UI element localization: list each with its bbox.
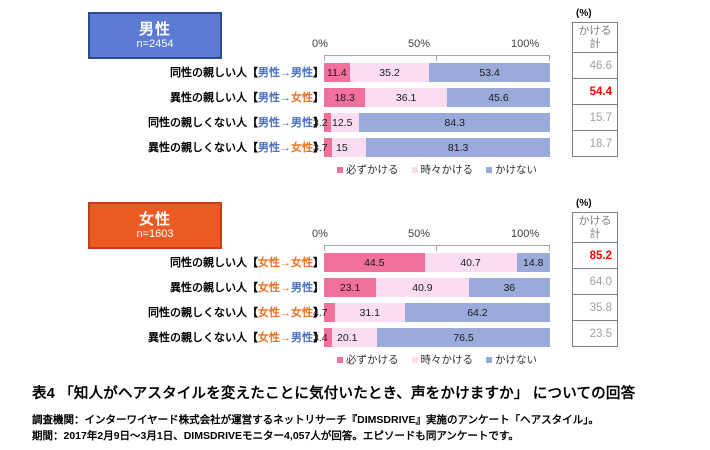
gender-sample-size: n=1603 <box>136 228 173 241</box>
row-label: 同性の親しくない人【女性→女性】 <box>148 304 324 320</box>
row-label-prefix: 異性の親しい人【 <box>170 282 258 294</box>
legend-label: かけない <box>495 162 537 177</box>
row-label: 同性の親しい人【女性→女性】 <box>170 254 324 270</box>
summary-table-header: かける計 <box>573 213 618 243</box>
source-line-1: 調査機関：インターワイヤード株式会社が運営するネットリサーチ『DIMSDRIVE… <box>32 412 599 428</box>
summary-cell-highlight: 54.4 <box>573 79 618 105</box>
legend-item-never: かけない <box>486 352 537 367</box>
x-axis-labels-male: 0% 50% 100% <box>304 38 566 52</box>
row-label-prefix: 異性の親しくない人【 <box>148 332 258 344</box>
summary-cell: 23.5 <box>573 321 618 347</box>
x-tick-100: 100% <box>511 38 539 50</box>
legend-item-never: かけない <box>486 162 537 177</box>
stacked-bar: 11.4 35.2 53.4 <box>324 63 550 82</box>
bar-segment-never: 14.8 <box>517 253 550 272</box>
x-tick-50: 50% <box>408 228 430 240</box>
bar-segment-never: 81.3 <box>366 138 550 157</box>
row-label-arrow: → <box>280 332 291 344</box>
summary-table-male: かける計 46.6 54.4 15.7 18.7 <box>572 22 618 157</box>
row-label-prefix: 同性の親しい人【 <box>170 257 258 269</box>
bar-value-always: 4.7 <box>313 303 328 322</box>
bar-segment-sometimes: 31.1 <box>335 303 405 322</box>
row-label-from: 女性 <box>258 307 280 319</box>
legend-male: 必ずかける 時々かける かけない <box>324 162 550 177</box>
legend-label: 必ずかける <box>346 162 399 177</box>
legend-item-always: 必ずかける <box>337 162 399 177</box>
bar-segment-sometimes: 35.2 <box>350 63 430 82</box>
summary-header-line1: かける <box>579 215 612 227</box>
bar-segment-sometimes: 40.9 <box>376 278 468 297</box>
stacked-bar: 81.3 <box>324 138 550 157</box>
stacked-bar: 23.1 40.9 36 <box>324 278 550 297</box>
bar-segment-always: 11.4 <box>324 63 350 82</box>
row-label-suffix: 】 <box>313 67 324 79</box>
row-label: 異性の親しくない人【女性→男性】 <box>148 329 324 345</box>
bar-segment-always: 44.5 <box>324 253 425 272</box>
bar-segment-never: 36 <box>469 278 550 297</box>
row-label: 異性の親しい人【男性→女性】 <box>170 89 324 105</box>
row-label-to: 男性 <box>291 332 313 344</box>
row-label-to: 男性 <box>291 117 313 129</box>
row-label-to: 女性 <box>291 92 313 104</box>
chart-panel-male: 男性 n=2454 0% 50% 100% 同性の親しい人【男性→男性】 11.… <box>0 0 710 185</box>
bar-segment-never: 53.4 <box>429 63 550 82</box>
x-tick-0: 0% <box>312 38 328 50</box>
legend-swatch-sometimes-icon <box>412 167 418 173</box>
legend-item-sometimes: 時々かける <box>412 162 474 177</box>
gender-title: 女性 <box>139 211 171 228</box>
legend-label: かけない <box>495 352 537 367</box>
row-label-to: 男性 <box>291 67 313 79</box>
bar-segment-never: 76.5 <box>377 328 550 347</box>
row-label: 同性の親しくない人【男性→男性】 <box>148 114 324 130</box>
summary-cell: 18.7 <box>573 131 618 157</box>
summary-header-line2: 計 <box>590 38 601 50</box>
row-label-prefix: 同性の親しい人【 <box>170 67 258 79</box>
x-tick-50: 50% <box>408 38 430 50</box>
stacked-bar: 18.3 36.1 45.6 <box>324 88 550 107</box>
bar-segment-never: 45.6 <box>447 88 550 107</box>
row-label-prefix: 異性の親しい人【 <box>170 92 258 104</box>
legend-swatch-never-icon <box>486 167 492 173</box>
legend-swatch-sometimes-icon <box>412 357 418 363</box>
row-label-from: 女性 <box>258 332 280 344</box>
summary-cell: 15.7 <box>573 105 618 131</box>
row-label-prefix: 異性の親しくない人【 <box>148 142 258 154</box>
row-label-to: 男性 <box>291 282 313 294</box>
x-tick-0: 0% <box>312 228 328 240</box>
bar-value-always: 3.4 <box>313 328 328 347</box>
bar-segment-never: 84.3 <box>359 113 550 132</box>
summary-table-header: かける計 <box>573 23 618 53</box>
summary-cell: 35.8 <box>573 295 618 321</box>
row-label-arrow: → <box>280 282 291 294</box>
bar-segment-sometimes: 36.1 <box>365 88 447 107</box>
bar-segment-sometimes: 40.7 <box>425 253 517 272</box>
row-label-to: 女性 <box>291 257 313 269</box>
summary-cell: 46.6 <box>573 53 618 79</box>
chart-panel-female: 女性 n=1603 0% 50% 100% 同性の親しい人【女性→女性】 44.… <box>0 190 710 365</box>
x-axis-labels-female: 0% 50% 100% <box>304 228 566 242</box>
row-label-from: 男性 <box>258 117 280 129</box>
source-line-2: 期間：2017年2月9日〜3月1日、DIMSDRIVEモニター4,057人が回答… <box>32 428 599 444</box>
bar-value-sometimes: 20.1 <box>337 328 357 347</box>
stacked-bar: 44.5 40.7 14.8 <box>324 253 550 272</box>
row-label-arrow: → <box>280 257 291 269</box>
row-label-arrow: → <box>280 117 291 129</box>
stacked-bar: 31.1 64.2 <box>324 303 550 322</box>
bar-segment-always: 18.3 <box>324 88 365 107</box>
bar-value-always: 3.7 <box>313 138 328 157</box>
bar-value-sometimes: 12.5 <box>332 113 352 132</box>
legend-swatch-always-icon <box>337 357 343 363</box>
summary-cell: 64.0 <box>573 269 618 295</box>
row-label-to: 女性 <box>291 142 313 154</box>
row-label-arrow: → <box>280 307 291 319</box>
row-label-from: 男性 <box>258 92 280 104</box>
row-label: 同性の親しい人【男性→男性】 <box>170 64 324 80</box>
row-label-from: 男性 <box>258 142 280 154</box>
row-label-suffix: 】 <box>313 257 324 269</box>
summary-header-line2: 計 <box>590 228 601 240</box>
row-label-from: 男性 <box>258 67 280 79</box>
gender-header-male: 男性 n=2454 <box>88 12 222 59</box>
row-label-suffix: 】 <box>313 282 324 294</box>
x-tick-100: 100% <box>511 228 539 240</box>
row-label-prefix: 同性の親しくない人【 <box>148 117 258 129</box>
summary-unit-female: (%) <box>576 198 592 209</box>
legend-label: 時々かける <box>421 352 474 367</box>
bar-value-sometimes: 15 <box>336 138 348 157</box>
row-label-to: 女性 <box>291 307 313 319</box>
bar-segment-always: 23.1 <box>324 278 376 297</box>
row-label-prefix: 同性の親しくない人【 <box>148 307 258 319</box>
row-label-arrow: → <box>280 67 291 79</box>
bar-value-always: 3.2 <box>313 113 328 132</box>
stacked-bar: 84.3 <box>324 113 550 132</box>
summary-header-line1: かける <box>579 25 612 37</box>
row-label: 異性の親しくない人【男性→女性】 <box>148 139 324 155</box>
legend-item-sometimes: 時々かける <box>412 352 474 367</box>
figure-caption-title: 表4 「知人がヘアスタイルを変えたことに気付いたとき、声をかけますか」 について… <box>32 382 635 403</box>
legend-label: 必ずかける <box>346 352 399 367</box>
bar-segment-never: 64.2 <box>405 303 550 322</box>
row-label-arrow: → <box>280 142 291 154</box>
stacked-bar: 76.5 <box>324 328 550 347</box>
row-label-suffix: 】 <box>313 92 324 104</box>
summary-table-female: かける計 85.2 64.0 35.8 23.5 <box>572 212 618 347</box>
gender-header-female: 女性 n=1603 <box>88 202 222 249</box>
legend-female: 必ずかける 時々かける かけない <box>324 352 550 367</box>
legend-item-always: 必ずかける <box>337 352 399 367</box>
legend-swatch-always-icon <box>337 167 343 173</box>
row-label-from: 女性 <box>258 282 280 294</box>
figure-source-note: 調査機関：インターワイヤード株式会社が運営するネットリサーチ『DIMSDRIVE… <box>32 412 599 445</box>
legend-swatch-never-icon <box>486 357 492 363</box>
summary-cell-highlight: 85.2 <box>573 243 618 269</box>
row-label-from: 女性 <box>258 257 280 269</box>
gender-title: 男性 <box>139 21 171 38</box>
row-label: 異性の親しい人【女性→男性】 <box>170 279 324 295</box>
row-label-arrow: → <box>280 92 291 104</box>
legend-label: 時々かける <box>421 162 474 177</box>
gender-sample-size: n=2454 <box>136 38 173 51</box>
summary-unit-male: (%) <box>576 8 592 19</box>
